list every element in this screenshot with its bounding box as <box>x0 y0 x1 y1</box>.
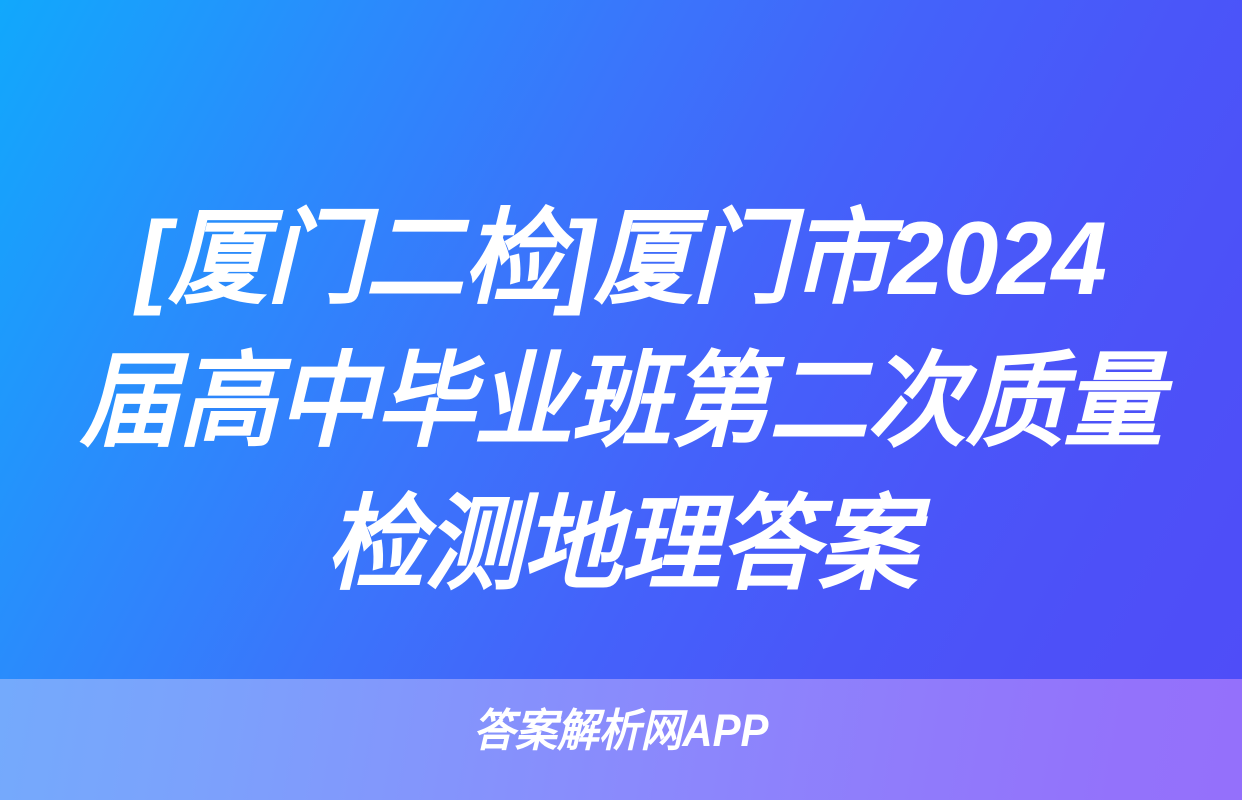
page-title-line-2: 届高中毕业班第二次质量 <box>28 331 1214 474</box>
app-watermark: 答案解析网APP <box>0 705 1242 757</box>
page-title-line-3: 检测地理答案 <box>28 474 1214 617</box>
page-title-line-1: [厦门二检]厦门市2024 <box>28 188 1214 331</box>
app-watermark-label: 答案解析网APP <box>473 705 768 757</box>
poster-canvas: [厦门二检]厦门市2024 届高中毕业班第二次质量 检测地理答案 答案解析网AP… <box>0 0 1242 800</box>
page-title: [厦门二检]厦门市2024 届高中毕业班第二次质量 检测地理答案 <box>0 188 1242 617</box>
